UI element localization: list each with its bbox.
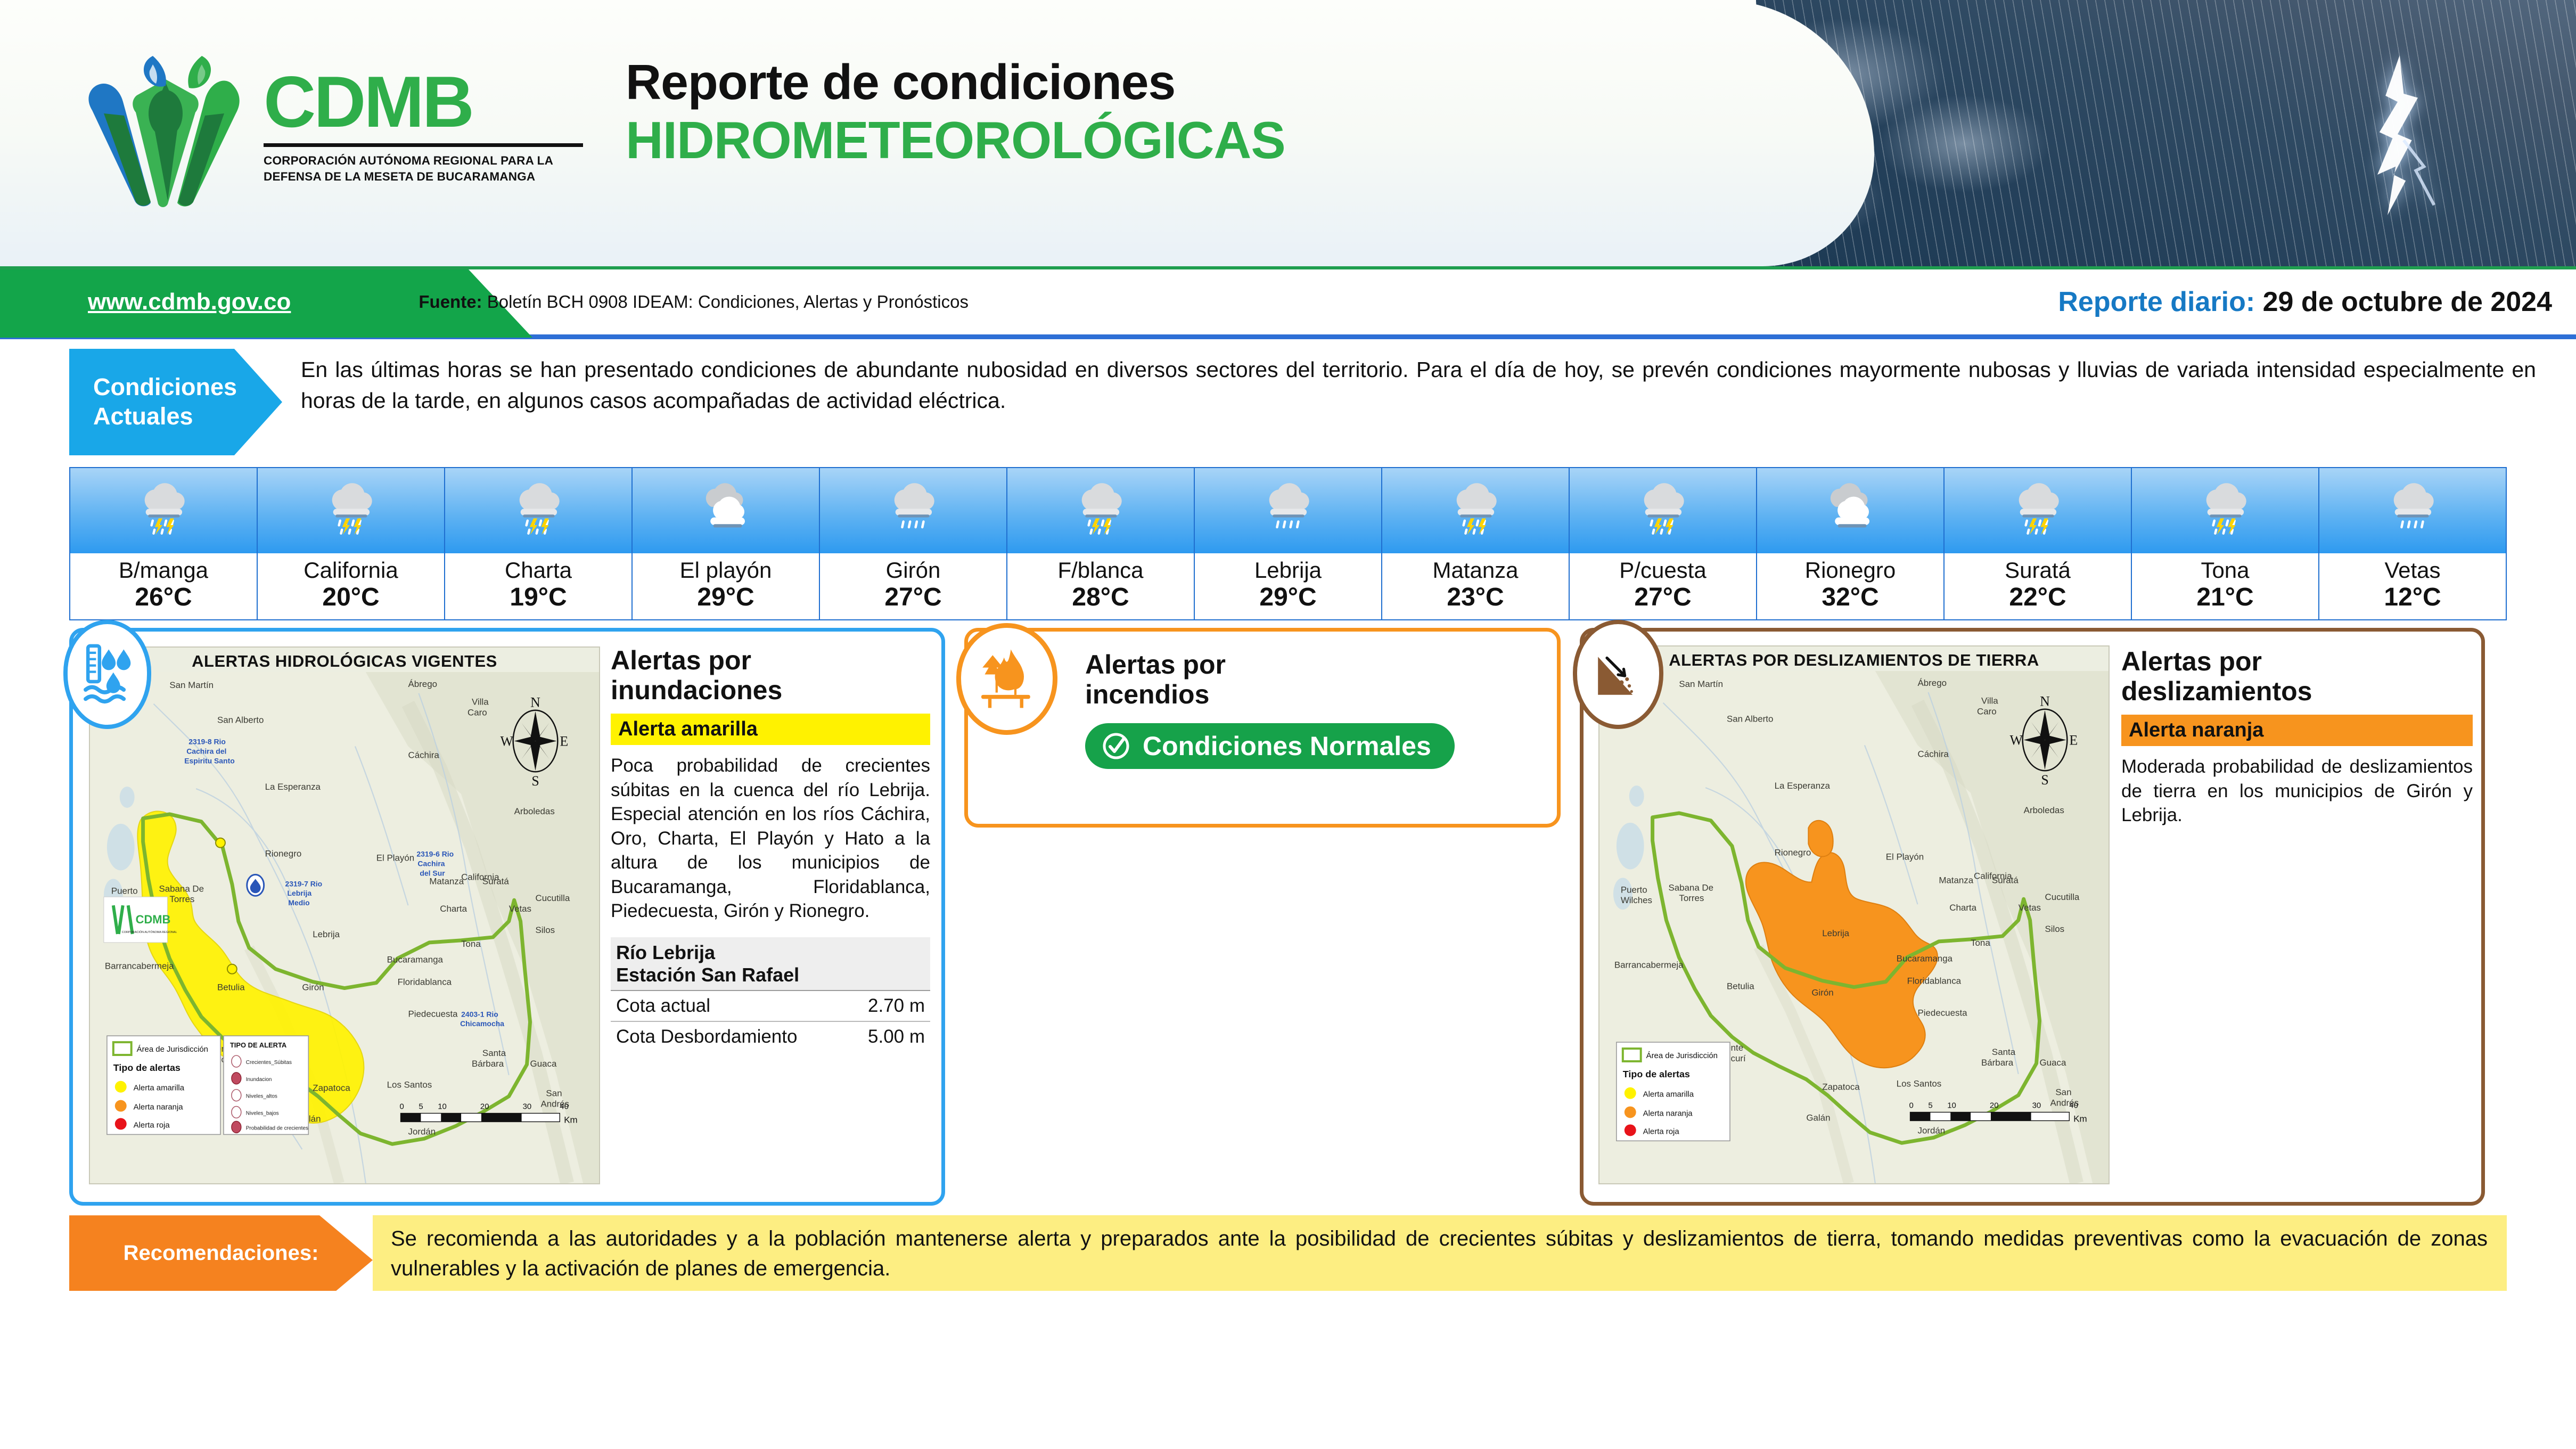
svg-text:La Esperanza: La Esperanza bbox=[1775, 781, 1831, 791]
report-date: Reporte diario: 29 de octubre de 2024 bbox=[2058, 286, 2552, 318]
flood-heading-line1: Alertas por bbox=[611, 645, 751, 675]
svg-text:Vetas: Vetas bbox=[2019, 903, 2041, 913]
forecast-temperature: 29°C bbox=[634, 583, 818, 612]
svg-text:Zapatoca: Zapatoca bbox=[1822, 1082, 1860, 1092]
svg-text:Alerta roja: Alerta roja bbox=[134, 1121, 170, 1130]
forecast-city: Matanza bbox=[1383, 558, 1568, 583]
svg-text:Bárbara: Bárbara bbox=[1981, 1058, 2014, 1068]
page-title-line2: HIDROMETEOROLÓGICAS bbox=[626, 113, 1285, 168]
svg-text:Santa: Santa bbox=[1992, 1047, 2016, 1057]
svg-text:Km: Km bbox=[564, 1115, 577, 1125]
svg-text:Puerto: Puerto bbox=[1621, 885, 1647, 895]
forecast-temperature: 12°C bbox=[2320, 583, 2505, 612]
svg-text:Floridablanca: Floridablanca bbox=[398, 977, 452, 987]
current-conditions-text: En las últimas horas se han presentado c… bbox=[282, 349, 2547, 455]
svg-text:Inundacion: Inundacion bbox=[246, 1077, 272, 1083]
forecast-labels: El playón29°C bbox=[633, 553, 819, 619]
station-row-value: 2.70 m bbox=[868, 995, 925, 1017]
forecast-labels: Matanza23°C bbox=[1382, 553, 1569, 619]
svg-text:California: California bbox=[461, 872, 499, 882]
forecast-cell: Vetas12°C bbox=[2319, 468, 2506, 619]
forecast-city: California bbox=[259, 558, 443, 583]
svg-text:Arboledas: Arboledas bbox=[2024, 805, 2064, 815]
svg-text:Silos: Silos bbox=[536, 925, 555, 935]
current-conditions-tag-line1: Condiciones bbox=[93, 373, 237, 400]
info-ribbon: www.cdmb.gov.co Fuente: Boletín BCH 0908… bbox=[0, 266, 2576, 334]
station-river-name: Río Lebrija bbox=[616, 942, 715, 963]
source-text: Boletín BCH 0908 IDEAM: Condiciones, Ale… bbox=[487, 292, 969, 312]
fire-heading-line1: Alertas por bbox=[1085, 650, 1226, 680]
forecast-cell: F/blanca28°C bbox=[1007, 468, 1195, 619]
thunderstorm-icon bbox=[258, 468, 444, 553]
forecast-city: El playón bbox=[634, 558, 818, 583]
svg-text:5: 5 bbox=[1928, 1101, 1932, 1110]
svg-text:Lebrija: Lebrija bbox=[1822, 928, 1849, 938]
forecast-labels: B/manga26°C bbox=[70, 553, 257, 619]
lightning-bolt-icon bbox=[2336, 53, 2459, 256]
svg-text:Matanza: Matanza bbox=[1939, 875, 1973, 886]
fire-status-label: Condiciones Normales bbox=[1143, 731, 1431, 762]
report-date-value: 29 de octubre de 2024 bbox=[2263, 286, 2552, 317]
svg-text:California: California bbox=[1974, 871, 2012, 881]
svg-text:40: 40 bbox=[560, 1102, 569, 1111]
forecast-temperature: 27°C bbox=[821, 583, 1005, 612]
hydrological-map-canvas: N S E W San Martín San Alberto Ábrego Vi… bbox=[90, 672, 599, 1183]
svg-text:Tipo de alertas: Tipo de alertas bbox=[113, 1062, 181, 1073]
recommendations-tag: Recomendaciones: bbox=[69, 1215, 373, 1291]
svg-text:Rionegro: Rionegro bbox=[1775, 848, 1811, 858]
forecast-labels: P/cuesta27°C bbox=[1570, 553, 1756, 619]
forecast-city: Tona bbox=[2133, 558, 2317, 583]
svg-text:Zapatoca: Zapatoca bbox=[313, 1083, 350, 1093]
svg-text:N: N bbox=[530, 695, 540, 710]
svg-text:Alerta roja: Alerta roja bbox=[1643, 1127, 1680, 1136]
svg-text:CORPORACIÓN AUTÓNOMA REGIONAL: CORPORACIÓN AUTÓNOMA REGIONAL bbox=[122, 930, 177, 934]
svg-text:La Esperanza: La Esperanza bbox=[265, 782, 321, 792]
svg-text:Sabana De: Sabana De bbox=[1668, 883, 1713, 893]
forecast-city: Vetas bbox=[2320, 558, 2505, 583]
svg-text:Vetas: Vetas bbox=[509, 904, 531, 914]
forecast-city: Lebrija bbox=[1196, 558, 1380, 583]
recommendations-section: Recomendaciones: Se recomienda a las aut… bbox=[69, 1215, 2507, 1291]
cloudy-icon bbox=[633, 468, 819, 553]
svg-text:0: 0 bbox=[400, 1102, 404, 1111]
hydrological-alerts-map[interactable]: ALERTAS HIDROLÓGICAS VIGENTES bbox=[89, 646, 600, 1184]
current-conditions-section: Condiciones Actuales En las últimas hora… bbox=[0, 339, 2576, 461]
svg-text:Betulia: Betulia bbox=[1727, 981, 1754, 992]
svg-text:20: 20 bbox=[480, 1102, 489, 1111]
forecast-temperature: 32°C bbox=[1758, 583, 1942, 612]
svg-text:Niveles_bajos: Niveles_bajos bbox=[246, 1111, 279, 1117]
logo-divider bbox=[264, 143, 583, 147]
forecast-temperature: 19°C bbox=[446, 583, 630, 612]
svg-text:Bárbara: Bárbara bbox=[472, 1059, 504, 1069]
svg-text:W: W bbox=[501, 734, 514, 749]
forecast-labels: Girón27°C bbox=[820, 553, 1006, 619]
svg-text:Cáchira: Cáchira bbox=[1918, 749, 1949, 759]
forest-fire-icon bbox=[956, 623, 1057, 735]
page-title-line1: Reporte de condiciones bbox=[626, 56, 1285, 109]
forecast-cell: Suratá22°C bbox=[1945, 468, 2132, 619]
page-title: Reporte de condiciones HIDROMETEOROLÓGIC… bbox=[626, 56, 1285, 168]
station-name: Estación San Rafael bbox=[616, 964, 799, 986]
svg-text:2319-7 Rio: 2319-7 Rio bbox=[285, 880, 322, 888]
svg-text:Alerta amarilla: Alerta amarilla bbox=[1643, 1090, 1694, 1099]
svg-text:Silos: Silos bbox=[2045, 924, 2065, 934]
svg-text:30: 30 bbox=[2032, 1101, 2041, 1110]
landslide-panel-heading: Alertas por deslizamientos bbox=[2121, 646, 2473, 706]
forecast-cell: Lebrija29°C bbox=[1195, 468, 1382, 619]
svg-text:Villa: Villa bbox=[472, 697, 489, 707]
svg-text:10: 10 bbox=[438, 1102, 447, 1111]
forecast-city: Suratá bbox=[1946, 558, 2130, 583]
recommendations-tag-label: Recomendaciones: bbox=[124, 1241, 319, 1265]
rain-icon bbox=[1195, 468, 1381, 553]
svg-text:Santa: Santa bbox=[482, 1048, 506, 1058]
landslide-alert-level-badge: Alerta naranja bbox=[2121, 715, 2473, 746]
svg-text:Jordán: Jordán bbox=[1918, 1126, 1946, 1136]
cdmb-logo: CDMB CORPORACIÓN AUTÓNOMA REGIONAL PARA … bbox=[72, 51, 599, 210]
svg-text:Espiritu Santo: Espiritu Santo bbox=[184, 757, 234, 765]
landslide-map-title: ALERTAS POR DESLIZAMIENTOS DE TIERRA bbox=[1599, 651, 2109, 670]
forecast-temperature: 28°C bbox=[1008, 583, 1193, 612]
svg-text:E: E bbox=[2069, 733, 2078, 748]
thunderstorm-icon bbox=[1570, 468, 1756, 553]
svg-text:Galán: Galán bbox=[1806, 1113, 1830, 1123]
svg-text:del Sur: del Sur bbox=[420, 869, 445, 878]
svg-text:10: 10 bbox=[1947, 1101, 1956, 1110]
forecast-strip: B/manga26°C California20°C bbox=[69, 467, 2507, 620]
thunderstorm-icon bbox=[1007, 468, 1194, 553]
forecast-cell: P/cuesta27°C bbox=[1570, 468, 1757, 619]
svg-text:Área de Jurisdicción: Área de Jurisdicción bbox=[1646, 1051, 1718, 1060]
svg-text:Guaca: Guaca bbox=[530, 1059, 557, 1069]
svg-text:Km: Km bbox=[2073, 1114, 2087, 1124]
svg-text:Área de Jurisdicción: Área de Jurisdicción bbox=[137, 1045, 208, 1054]
flood-panel-heading: Alertas por inundaciones bbox=[611, 645, 930, 705]
svg-text:Floridablanca: Floridablanca bbox=[1907, 976, 1962, 986]
current-conditions-tag-line2: Actuales bbox=[93, 403, 193, 430]
forecast-temperature: 27°C bbox=[1571, 583, 1755, 612]
fire-panel-heading: Alertas por incendios bbox=[1085, 650, 1522, 709]
svg-text:Sabana De: Sabana De bbox=[159, 884, 204, 894]
page-header: CDMB CORPORACIÓN AUTÓNOMA REGIONAL PARA … bbox=[0, 0, 2576, 266]
svg-text:Piedecuesta: Piedecuesta bbox=[1918, 1008, 1968, 1018]
water-level-gauge-icon bbox=[63, 620, 151, 729]
forecast-labels: Tona21°C bbox=[2132, 553, 2318, 619]
forecast-temperature: 21°C bbox=[2133, 583, 2317, 612]
svg-text:S: S bbox=[2041, 772, 2048, 788]
cdmb-website-link[interactable]: www.cdmb.gov.co bbox=[88, 289, 291, 315]
svg-text:E: E bbox=[560, 734, 568, 749]
fire-heading-line2: incendios bbox=[1085, 680, 1209, 709]
svg-text:Barrancabermeja: Barrancabermeja bbox=[1614, 960, 1684, 970]
forecast-labels: California20°C bbox=[258, 553, 444, 619]
svg-text:Tipo de alertas: Tipo de alertas bbox=[1623, 1069, 1690, 1079]
svg-text:20: 20 bbox=[1990, 1101, 1999, 1110]
svg-text:Alerta naranja: Alerta naranja bbox=[1643, 1109, 1693, 1118]
svg-text:2319-8 Rio: 2319-8 Rio bbox=[188, 738, 226, 746]
river-station-table: Río Lebrija Estación San Rafael Cota act… bbox=[611, 937, 930, 1052]
svg-text:Torres: Torres bbox=[1679, 893, 1704, 903]
forecast-city: Charta bbox=[446, 558, 630, 583]
svg-text:Ábrego: Ábrego bbox=[1918, 678, 1947, 688]
svg-text:Los Santos: Los Santos bbox=[1897, 1079, 1942, 1089]
flood-alerts-panel: ALERTAS HIDROLÓGICAS VIGENTES bbox=[69, 628, 945, 1206]
check-circle-icon bbox=[1101, 731, 1131, 761]
forecast-temperature: 26°C bbox=[71, 583, 256, 612]
landslide-heading-line1: Alertas por bbox=[2121, 646, 2262, 676]
logo-subtitle-line2: DEFENSA DE LA MESETA DE BUCARAMANGA bbox=[264, 169, 583, 185]
landslide-alerts-panel: ALERTAS POR DESLIZAMIENTOS DE TIERRA bbox=[1580, 628, 2485, 1206]
svg-text:Charta: Charta bbox=[440, 904, 467, 914]
forecast-labels: Suratá22°C bbox=[1945, 553, 2131, 619]
svg-text:Bucaramanga: Bucaramanga bbox=[1897, 954, 1953, 964]
thunderstorm-icon bbox=[1382, 468, 1569, 553]
svg-text:Caro: Caro bbox=[1977, 707, 1997, 717]
rain-icon bbox=[820, 468, 1006, 553]
svg-text:Girón: Girón bbox=[1811, 988, 1833, 998]
svg-text:30: 30 bbox=[523, 1102, 532, 1111]
svg-text:Tona: Tona bbox=[461, 939, 481, 949]
forecast-labels: Rionegro32°C bbox=[1757, 553, 1943, 619]
storm-photo bbox=[1756, 0, 2576, 266]
svg-text:40: 40 bbox=[2069, 1101, 2078, 1110]
landslide-alerts-map[interactable]: ALERTAS POR DESLIZAMIENTOS DE TIERRA bbox=[1598, 645, 2110, 1184]
svg-text:CDMB: CDMB bbox=[136, 913, 171, 926]
forecast-temperature: 20°C bbox=[259, 583, 443, 612]
forecast-city: F/blanca bbox=[1008, 558, 1193, 583]
svg-text:Caro: Caro bbox=[467, 708, 487, 718]
cloudy-icon bbox=[1757, 468, 1943, 553]
svg-text:Ábrego: Ábrego bbox=[408, 679, 438, 689]
forecast-city: Rionegro bbox=[1758, 558, 1942, 583]
station-row-label: Cota actual bbox=[616, 995, 710, 1017]
svg-text:Tona: Tona bbox=[1971, 938, 1990, 948]
svg-text:Alerta naranja: Alerta naranja bbox=[134, 1103, 184, 1112]
svg-text:2319-6 Rio: 2319-6 Rio bbox=[416, 850, 454, 858]
landslide-icon bbox=[1573, 620, 1663, 729]
rain-icon bbox=[2319, 468, 2506, 553]
svg-text:5: 5 bbox=[419, 1102, 423, 1111]
station-row-label: Cota Desbordamiento bbox=[616, 1026, 797, 1047]
svg-text:Cucutilla: Cucutilla bbox=[2045, 892, 2080, 902]
fire-status-badge: Condiciones Normales bbox=[1085, 723, 1455, 769]
svg-text:El Playón: El Playón bbox=[376, 853, 414, 863]
svg-text:Lebrija: Lebrija bbox=[313, 929, 340, 939]
forecast-cell: Matanza23°C bbox=[1382, 468, 1570, 619]
forecast-labels: F/blanca28°C bbox=[1007, 553, 1194, 619]
svg-text:W: W bbox=[2010, 733, 2023, 748]
hydrological-map-title: ALERTAS HIDROLÓGICAS VIGENTES bbox=[90, 652, 599, 671]
forecast-cell: California20°C bbox=[258, 468, 445, 619]
forecast-temperature: 29°C bbox=[1196, 583, 1380, 612]
thunderstorm-icon bbox=[2132, 468, 2318, 553]
recommendations-text: Se recomienda a las autoridades y a la p… bbox=[373, 1215, 2507, 1291]
svg-text:N: N bbox=[2040, 694, 2050, 709]
svg-text:Chicamocha: Chicamocha bbox=[460, 1019, 504, 1028]
svg-text:San: San bbox=[546, 1088, 562, 1099]
alert-panels-row: ALERTAS HIDROLÓGICAS VIGENTES bbox=[69, 628, 2507, 1206]
table-row: Cota Desbordamiento 5.00 m bbox=[611, 1022, 930, 1052]
flood-alert-level-badge: Alerta amarilla bbox=[611, 714, 930, 745]
svg-text:Niveles_altos: Niveles_altos bbox=[246, 1094, 277, 1100]
thunderstorm-icon bbox=[445, 468, 631, 553]
landslide-panel-body: Alertas por deslizamientos Alerta naranj… bbox=[2121, 646, 2473, 828]
forecast-cell: Charta19°C bbox=[445, 468, 633, 619]
forecast-temperature: 23°C bbox=[1383, 583, 1568, 612]
svg-text:Rionegro: Rionegro bbox=[265, 849, 302, 859]
svg-text:Crecientes_Súbitas: Crecientes_Súbitas bbox=[246, 1060, 292, 1066]
svg-text:San Alberto: San Alberto bbox=[217, 715, 264, 725]
station-row-value: 5.00 m bbox=[868, 1026, 925, 1047]
svg-text:Lebrija: Lebrija bbox=[287, 889, 311, 897]
svg-text:San: San bbox=[2055, 1087, 2071, 1098]
station-header: Río Lebrija Estación San Rafael bbox=[611, 937, 930, 991]
forecast-city: P/cuesta bbox=[1571, 558, 1755, 583]
forecast-cell: El playón29°C bbox=[633, 468, 820, 619]
svg-text:Bucaramanga: Bucaramanga bbox=[387, 955, 444, 965]
flood-panel-body: Alertas por inundaciones Alerta amarilla… bbox=[611, 645, 930, 1051]
forecast-labels: Charta19°C bbox=[445, 553, 631, 619]
fire-alerts-panel: Alertas por incendios Condiciones Normal… bbox=[964, 628, 1561, 828]
svg-text:Barrancabermeja: Barrancabermeja bbox=[105, 961, 174, 971]
forecast-cell: Tona21°C bbox=[2132, 468, 2319, 619]
report-date-label: Reporte diario: bbox=[2058, 286, 2255, 317]
svg-text:Cachira del: Cachira del bbox=[186, 747, 226, 756]
svg-text:2403-1 Rio: 2403-1 Rio bbox=[461, 1010, 498, 1019]
landslide-alert-description: Moderada probabilidad de deslizamientos … bbox=[2121, 755, 2473, 828]
svg-text:Cucutilla: Cucutilla bbox=[536, 893, 570, 903]
svg-text:0: 0 bbox=[1909, 1101, 1914, 1110]
forecast-cell: Rionegro32°C bbox=[1757, 468, 1945, 619]
source-label: Fuente: bbox=[419, 292, 482, 312]
forecast-city: Girón bbox=[821, 558, 1005, 583]
svg-text:Torres: Torres bbox=[169, 894, 194, 904]
table-row: Cota actual 2.70 m bbox=[611, 991, 930, 1022]
svg-text:San Alberto: San Alberto bbox=[1727, 714, 1773, 724]
svg-text:San Martín: San Martín bbox=[1679, 679, 1723, 689]
svg-text:Arboledas: Arboledas bbox=[514, 806, 555, 816]
svg-text:San Martín: San Martín bbox=[169, 680, 214, 690]
svg-text:Puerto: Puerto bbox=[111, 886, 138, 896]
svg-text:Charta: Charta bbox=[1949, 903, 1976, 913]
landslide-map-canvas: N S E W San Martín San Alberto Ábrego Vi… bbox=[1599, 671, 2109, 1183]
forecast-temperature: 22°C bbox=[1946, 583, 2130, 612]
thunderstorm-icon bbox=[1945, 468, 2131, 553]
svg-text:Medio: Medio bbox=[288, 898, 309, 907]
current-conditions-tag: Condiciones Actuales bbox=[69, 349, 282, 455]
svg-text:Piedecuesta: Piedecuesta bbox=[408, 1009, 458, 1019]
thunderstorm-icon bbox=[70, 468, 257, 553]
svg-text:Villa: Villa bbox=[1981, 696, 1998, 706]
flood-heading-line2: inundaciones bbox=[611, 675, 782, 705]
svg-text:Alerta amarilla: Alerta amarilla bbox=[134, 1084, 185, 1093]
flood-alert-description: Poca probabilidad de crecientes súbitas … bbox=[611, 754, 930, 923]
svg-text:Cáchira: Cáchira bbox=[408, 750, 440, 760]
logo-acronym: CDMB bbox=[264, 66, 583, 138]
forecast-labels: Vetas12°C bbox=[2319, 553, 2506, 619]
forecast-cell: B/manga26°C bbox=[70, 468, 258, 619]
cdmb-logo-mark-icon bbox=[72, 51, 258, 210]
svg-text:S: S bbox=[531, 773, 539, 789]
svg-text:Girón: Girón bbox=[302, 983, 324, 993]
source-note: Fuente: Boletín BCH 0908 IDEAM: Condicio… bbox=[419, 292, 969, 312]
svg-text:Betulia: Betulia bbox=[217, 983, 245, 993]
forecast-city: B/manga bbox=[71, 558, 256, 583]
landslide-heading-line2: deslizamientos bbox=[2121, 676, 2312, 706]
svg-text:Los Santos: Los Santos bbox=[387, 1080, 432, 1090]
svg-text:Wilches: Wilches bbox=[1621, 895, 1652, 905]
svg-text:Matanza: Matanza bbox=[429, 877, 464, 887]
svg-text:Jordán: Jordán bbox=[408, 1127, 436, 1137]
forecast-labels: Lebrija29°C bbox=[1195, 553, 1381, 619]
fire-panel-body: Alertas por incendios Condiciones Normal… bbox=[1085, 650, 1522, 769]
svg-text:Cachira: Cachira bbox=[417, 859, 445, 868]
forecast-cell: Girón27°C bbox=[820, 468, 1007, 619]
svg-text:Guaca: Guaca bbox=[2040, 1058, 2066, 1068]
svg-text:Probabilidad de crecientes: Probabilidad de crecientes bbox=[246, 1126, 308, 1132]
svg-text:El Playón: El Playón bbox=[1886, 852, 1924, 862]
logo-subtitle-line1: CORPORACIÓN AUTÓNOMA REGIONAL PARA LA bbox=[264, 153, 583, 169]
svg-text:TIPO DE ALERTA: TIPO DE ALERTA bbox=[230, 1041, 286, 1049]
